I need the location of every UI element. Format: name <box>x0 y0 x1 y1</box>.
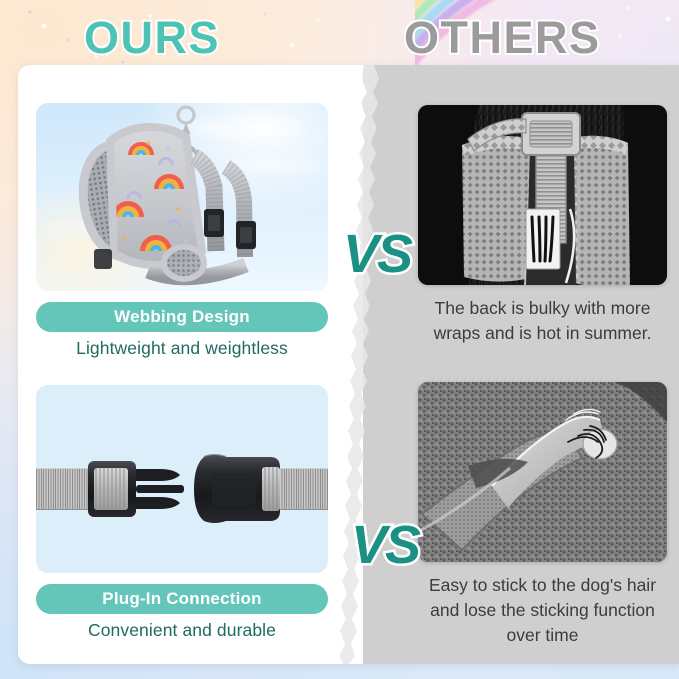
buckle-illustration <box>36 385 328 573</box>
vs-mark-first: VS <box>343 223 411 285</box>
velcro-hair-illustration <box>418 382 667 562</box>
others-issue-1: The back is bulky with more wraps and is… <box>418 105 667 346</box>
ours-feature-1-badge: Webbing Design <box>36 302 328 332</box>
ours-heading: OURS <box>84 12 220 64</box>
others-heading: OTHERS <box>404 12 601 64</box>
ours-feature-2-badge: Plug-In Connection <box>36 584 328 614</box>
ours-feature-1: Webbing Design Lightweight and weightles… <box>36 103 328 359</box>
ours-feature-2: Plug-In Connection Convenient and durabl… <box>36 385 328 641</box>
comparison-card: Webbing Design Lightweight and weightles… <box>18 65 679 664</box>
side-release-buckle-photo <box>36 385 328 573</box>
others-issue-1-caption: The back is bulky with more wraps and is… <box>418 296 667 346</box>
bulky-harness-illustration <box>418 105 667 285</box>
velcro-stuck-to-hair-photo <box>418 382 667 562</box>
ours-feature-1-caption: Lightweight and weightless <box>36 338 328 359</box>
vs-mark-second: VS <box>351 514 419 576</box>
harness-illustration <box>36 103 328 291</box>
others-issue-2: Easy to stick to the dog's hair and lose… <box>418 382 667 648</box>
ours-feature-2-caption: Convenient and durable <box>36 620 328 641</box>
others-issue-2-caption: Easy to stick to the dog's hair and lose… <box>418 573 667 648</box>
rainbow-print-dog-harness-photo <box>36 103 328 291</box>
bulky-harness-back-photo <box>418 105 667 285</box>
